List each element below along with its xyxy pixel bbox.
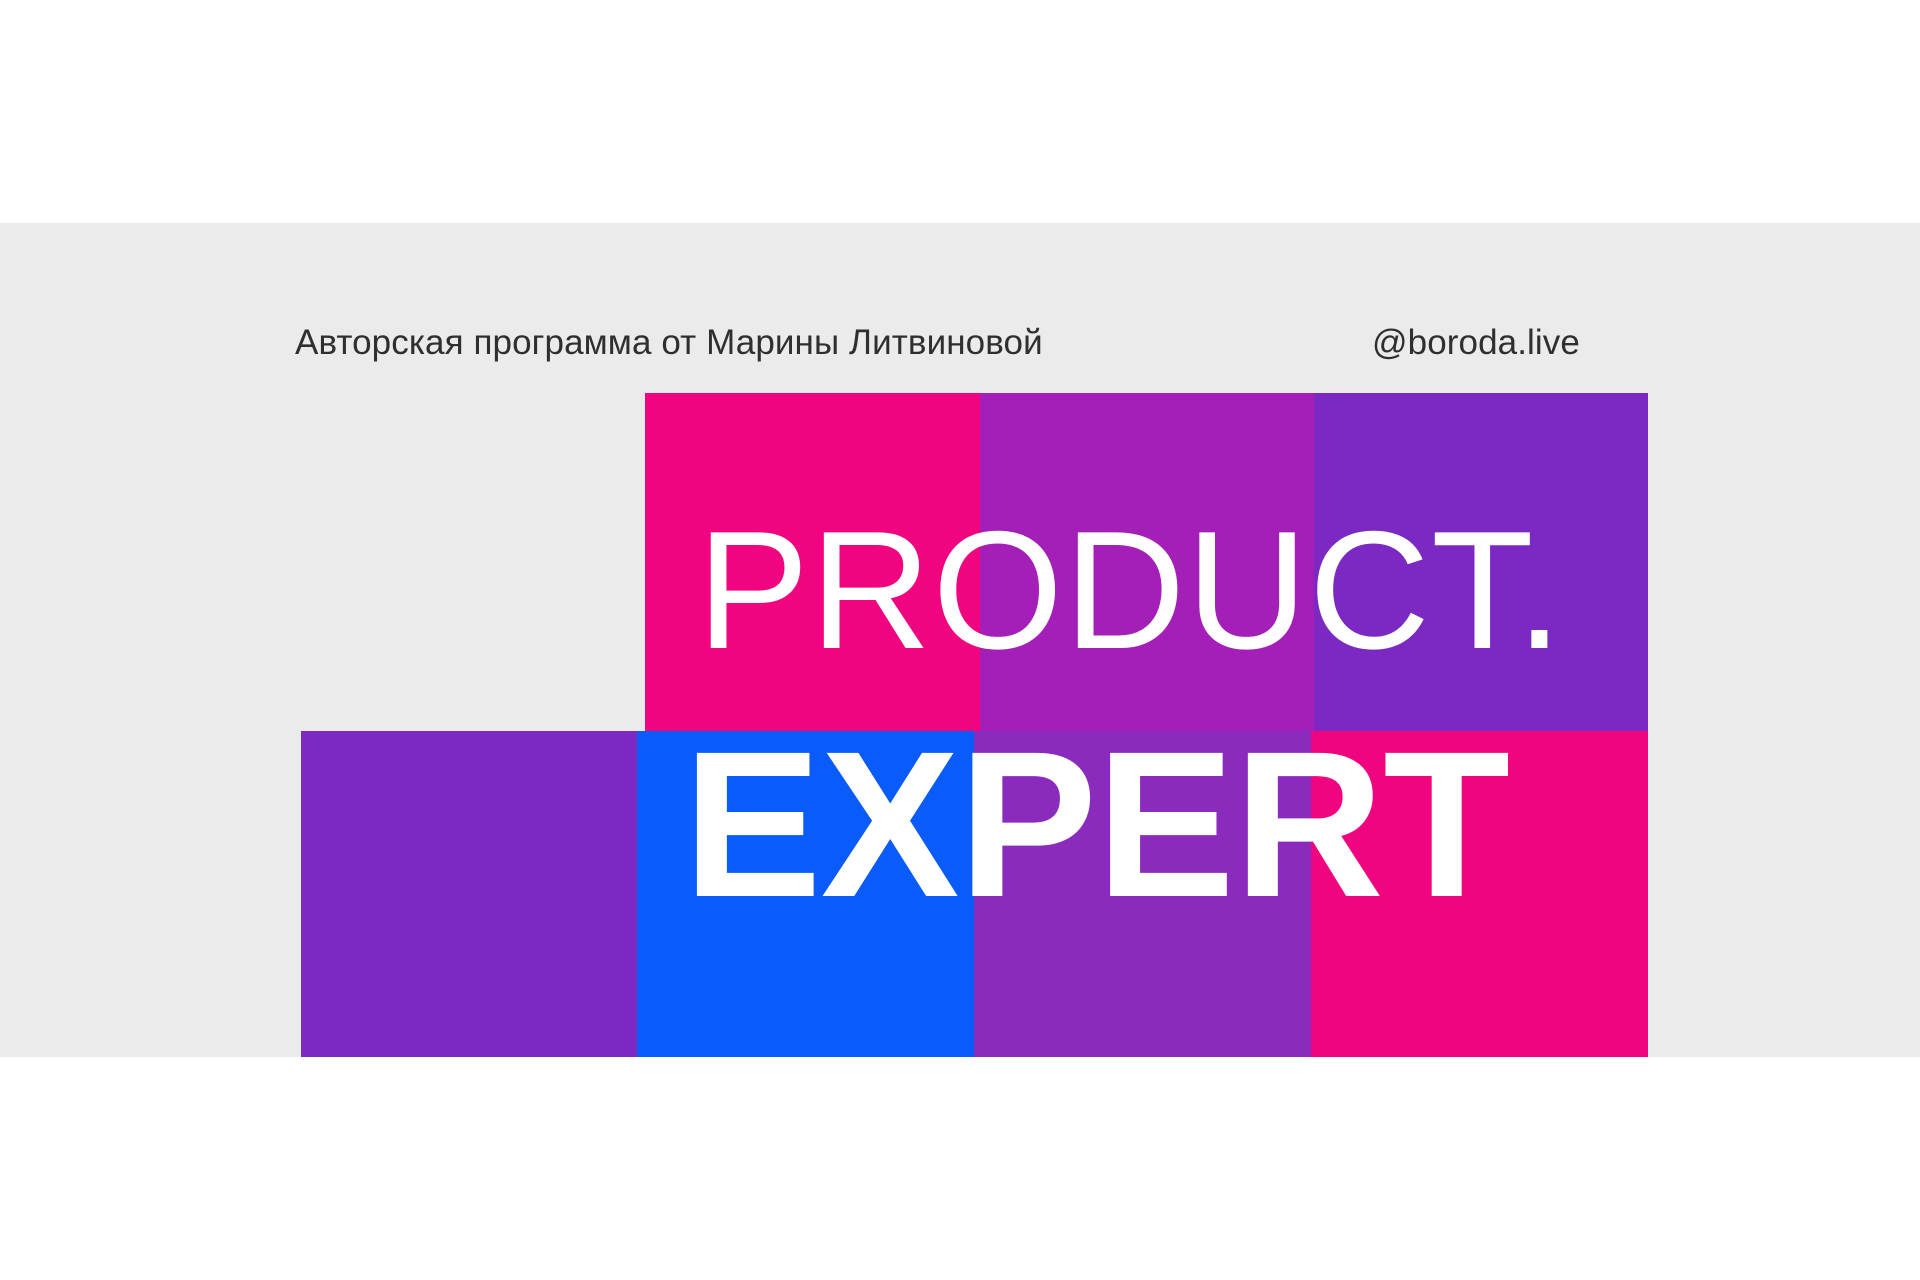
tile-row2-col1 — [301, 731, 637, 1057]
tile-grid — [0, 223, 1920, 1057]
tile-row1-col2 — [980, 393, 1314, 731]
tile-row2-col2 — [637, 731, 974, 1057]
tile-row1-col3 — [1314, 393, 1648, 731]
page-root: Авторская программа от Марины Литвиновой… — [0, 0, 1920, 1280]
banner-band: Авторская программа от Марины Литвиновой… — [0, 223, 1920, 1057]
tile-row1-col1 — [645, 393, 980, 731]
tile-row2-col3 — [974, 731, 1311, 1057]
tile-row2-col4 — [1311, 731, 1648, 1057]
